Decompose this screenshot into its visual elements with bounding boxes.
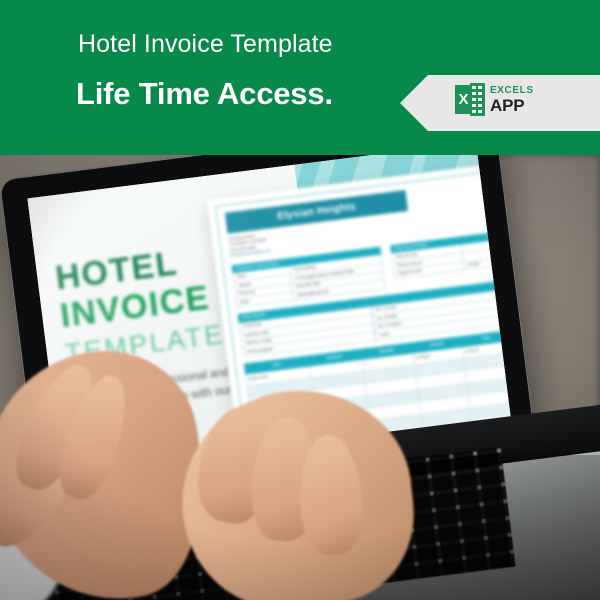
- promo-subtitle: Life Time Access.: [76, 78, 333, 109]
- laptop-photo: HOTEL INVOICE TEMPLATE Quickly create pr…: [0, 155, 600, 600]
- promo-banner: Hotel Invoice Template Life Time Access.…: [0, 0, 600, 155]
- payment-details-block: Payment Details Rate per Day Rate per pe…: [390, 232, 502, 288]
- brand-wordmark: EXCELS APP: [490, 86, 534, 114]
- brand-logo: X EXCELS A: [455, 83, 534, 116]
- screenshot-root: Hotel Invoice Template Life Time Access.…: [0, 0, 600, 600]
- brand-name-top: EXCELS: [490, 86, 534, 96]
- spreadsheet-grid-icon: [470, 83, 485, 116]
- excel-file-icon: X: [455, 83, 485, 116]
- brand-logo-tab: X EXCELS A: [400, 75, 600, 131]
- promo-title: Hotel Invoice Template: [78, 32, 333, 57]
- brand-name-bottom: APP: [490, 97, 534, 114]
